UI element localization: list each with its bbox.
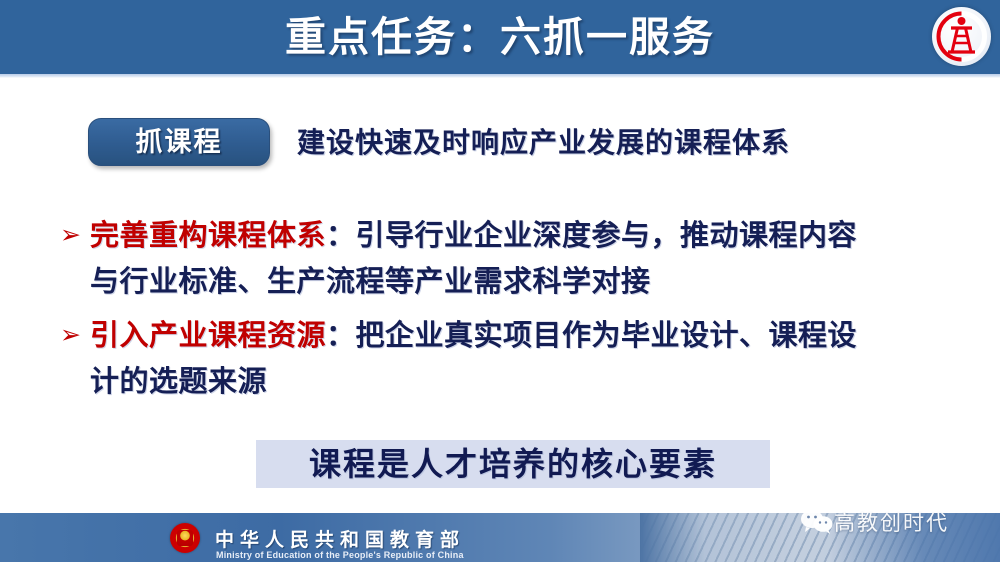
wechat-icon (800, 508, 834, 536)
bullet-list: ➢ 完善重构课程体系：引导行业企业深度参与，推动课程内容 与行业标准、生产流程等… (60, 212, 960, 412)
ministry-name-cn: 中华人民共和国教育部 (215, 525, 465, 552)
bullet-continuation: 计的选题来源 (90, 358, 960, 404)
bullet-keyword: 完善重构课程体系 (90, 218, 326, 252)
bullet-keyword: 引入产业课程资源 (90, 318, 326, 352)
bullet-text: 完善重构课程体系：引导行业企业深度参与，推动课程内容 (90, 212, 960, 258)
tower-circle-logo-icon (932, 7, 991, 66)
header-underline (0, 74, 1000, 78)
watermark-label: 高教创时代 (834, 507, 949, 537)
section-pill-label: 抓课程 (88, 118, 270, 166)
bullet-body: ：把企业真实项目作为毕业设计、课程设 (326, 318, 857, 352)
arrow-bullet-icon: ➢ (60, 212, 90, 258)
page-title: 重点任务：六抓一服务 (0, 8, 1000, 66)
slide-root: 重点任务：六抓一服务 抓课程 建设快速及时响应产业发展的课程体系 ➢ 完善重构课… (0, 0, 1000, 562)
ministry-name-en: Ministry of Education of the People's Re… (216, 550, 464, 560)
highlight-band: 课程是人才培养的核心要素 (256, 440, 770, 488)
bullet-body: ：引导行业企业深度参与，推动课程内容 (326, 218, 857, 252)
arrow-bullet-icon: ➢ (60, 312, 90, 358)
national-emblem (170, 523, 200, 553)
bullet-item: ➢ 完善重构课程体系：引导行业企业深度参与，推动课程内容 与行业标准、生产流程等… (60, 212, 960, 304)
highlight-text: 课程是人才培养的核心要素 (256, 440, 770, 488)
tower-circle-logo (932, 7, 991, 66)
bullet-continuation: 与行业标准、生产流程等产业需求科学对接 (90, 258, 960, 304)
wechat-watermark: 高教创时代 (800, 505, 949, 539)
bullet-item: ➢ 引入产业课程资源：把企业真实项目作为毕业设计、课程设 计的选题来源 (60, 312, 960, 404)
bullet-text: 引入产业课程资源：把企业真实项目作为毕业设计、课程设 (90, 312, 960, 358)
section-headline: 建设快速及时响应产业发展的课程体系 (297, 124, 790, 162)
